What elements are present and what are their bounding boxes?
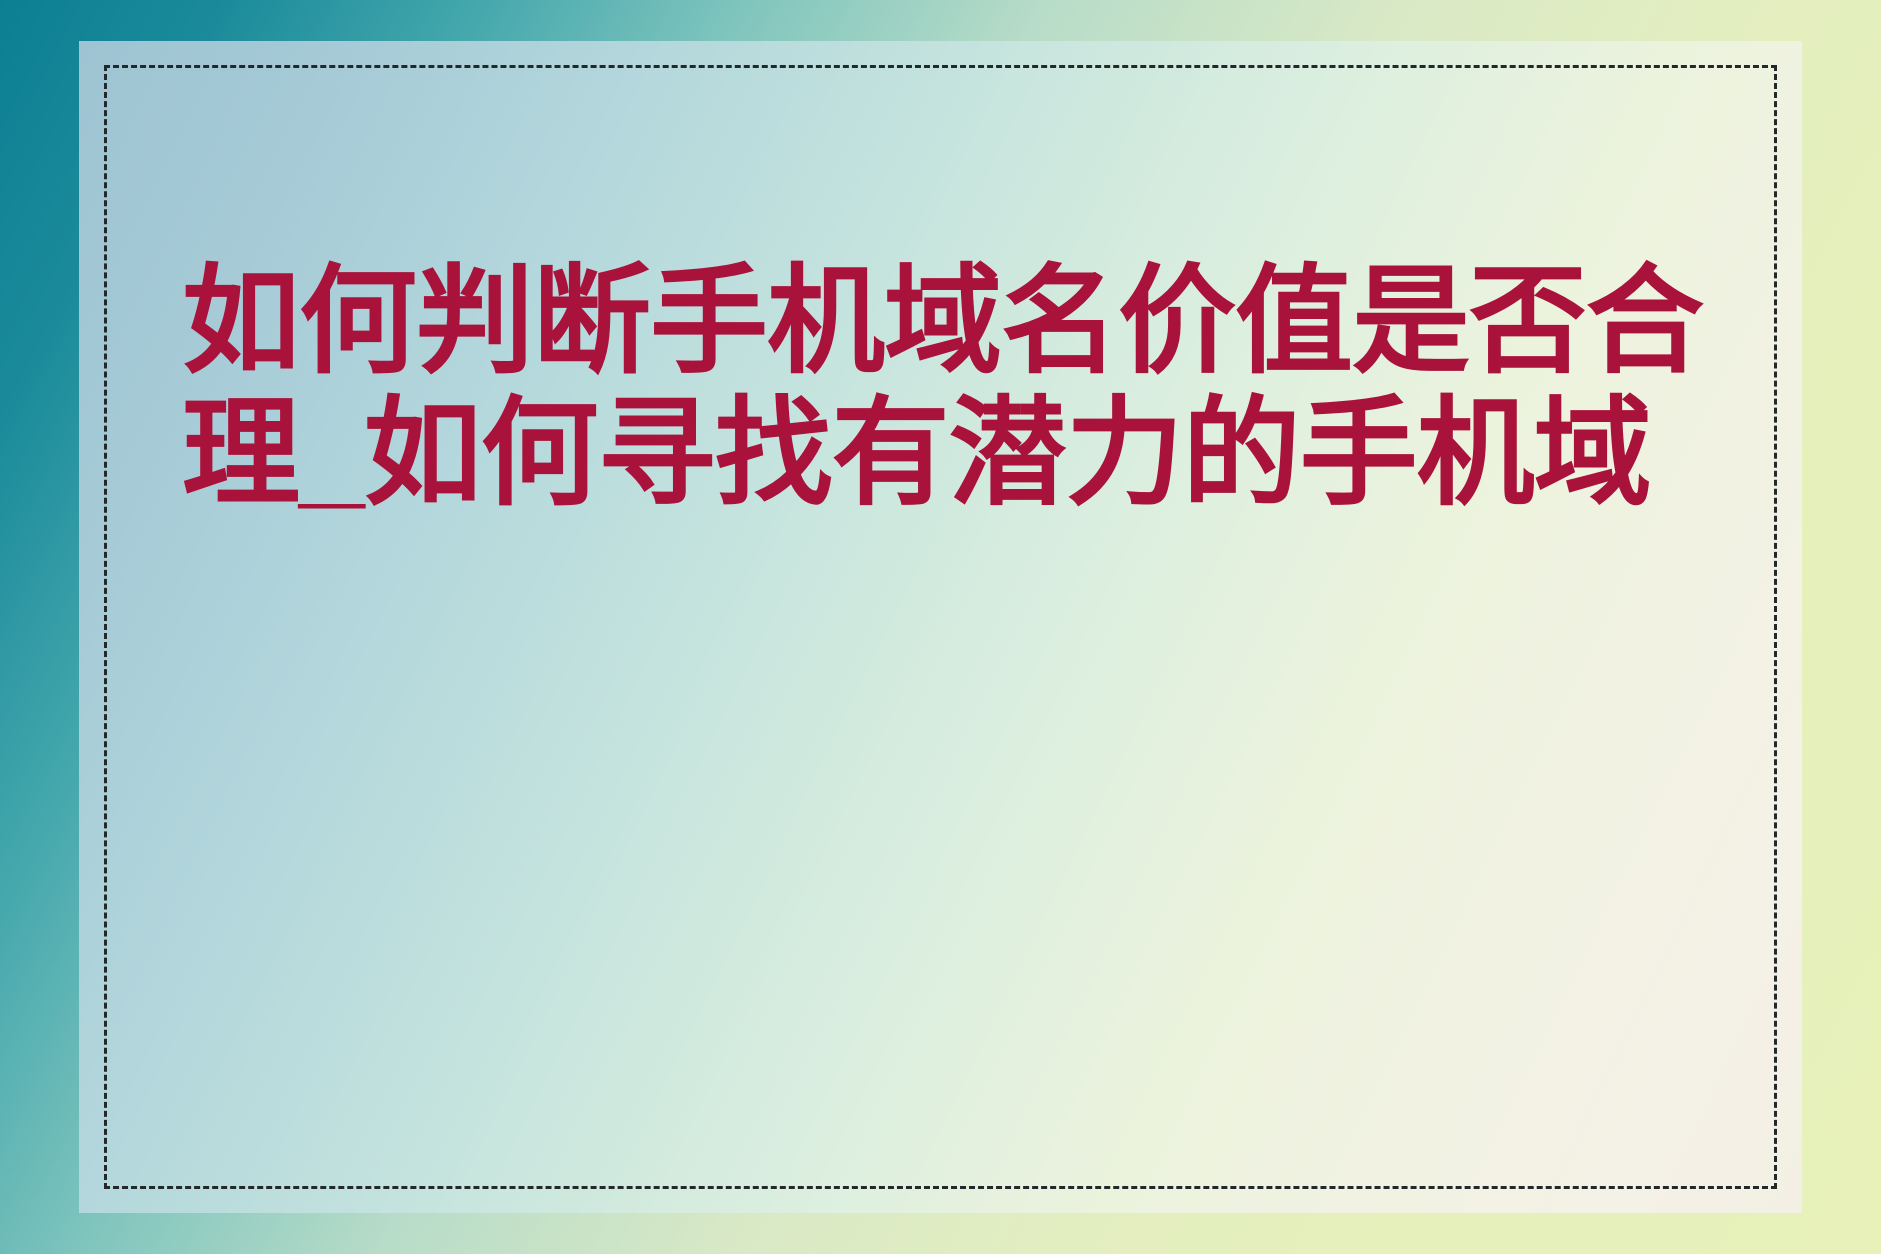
headline-line-2: 理_如何寻找有潜力的手机域 bbox=[182, 388, 1602, 520]
poster-inner-panel: 如何判断手机域名价值是否合 理_如何寻找有潜力的手机域 bbox=[79, 41, 1802, 1213]
poster-headline: 如何判断手机域名价值是否合 理_如何寻找有潜力的手机域 bbox=[182, 256, 1602, 520]
headline-line-1: 如何判断手机域名价值是否合 bbox=[182, 256, 1602, 388]
poster-canvas: 如何判断手机域名价值是否合 理_如何寻找有潜力的手机域 bbox=[0, 0, 1881, 1254]
dashed-border-frame bbox=[104, 65, 1777, 1189]
